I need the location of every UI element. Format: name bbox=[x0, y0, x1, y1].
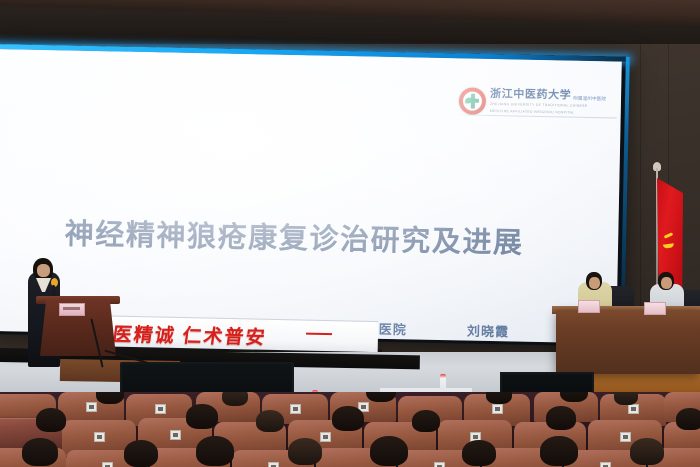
audience-head bbox=[222, 392, 248, 406]
audience-head bbox=[546, 406, 576, 430]
seat-number-tag bbox=[268, 462, 279, 467]
seat-number-tag bbox=[434, 462, 445, 467]
slide-presenter: 刘晓霞 bbox=[467, 321, 510, 341]
seat-number-tag bbox=[86, 402, 97, 412]
seat-number-tag bbox=[102, 462, 113, 467]
seat-number-tag bbox=[170, 430, 181, 440]
panel-person-1-face bbox=[589, 277, 600, 289]
logo-org-cn-suffix: 附属温州中医院 bbox=[573, 96, 606, 102]
audience-head bbox=[186, 404, 218, 429]
audience-head bbox=[412, 410, 440, 432]
water-bottle-1 bbox=[440, 374, 446, 390]
banner-text: 大医精诚 仁术普安 bbox=[90, 319, 268, 350]
logo-org-cn: 浙江中医药大学 bbox=[490, 89, 571, 102]
audience-head bbox=[614, 392, 638, 405]
slide-logo-block: 浙江中医药大学 附属温州中医院 ZHEJIANG UNIVERSITY OF T… bbox=[459, 87, 610, 117]
audience-head bbox=[370, 436, 408, 466]
seat-number-tag bbox=[620, 432, 631, 442]
audience-area bbox=[0, 392, 700, 467]
audience-head bbox=[196, 436, 234, 466]
panel-table bbox=[556, 310, 700, 374]
audience-head bbox=[22, 438, 58, 466]
seat-number-tag bbox=[628, 404, 639, 414]
audience-head bbox=[540, 436, 578, 466]
panel-nameplate-2 bbox=[644, 302, 666, 315]
seat-number-tag bbox=[94, 432, 105, 442]
podium-nameplate bbox=[59, 303, 85, 316]
audience-head bbox=[124, 440, 158, 467]
hospital-emblem-icon bbox=[459, 87, 487, 115]
panel-person-2-face bbox=[661, 277, 672, 289]
audience-head bbox=[676, 408, 700, 430]
audience-head bbox=[462, 440, 496, 466]
audience-head bbox=[96, 392, 124, 404]
audience-head bbox=[630, 438, 664, 465]
audience-head bbox=[486, 392, 512, 404]
audience-head bbox=[332, 406, 364, 431]
audience-head bbox=[36, 408, 66, 432]
slide-logo-text: 浙江中医药大学 附属温州中医院 ZHEJIANG UNIVERSITY OF T… bbox=[490, 89, 607, 116]
calligraphy-banner: 大医精诚 仁术普安 bbox=[78, 315, 379, 352]
speaker-face bbox=[37, 264, 50, 277]
seat-number-tag bbox=[155, 404, 166, 414]
audience-head bbox=[256, 410, 284, 432]
seat-number-tag bbox=[492, 404, 503, 414]
seat-number-tag bbox=[600, 462, 611, 467]
seat-number-tag bbox=[320, 432, 331, 442]
audience-head bbox=[288, 438, 322, 465]
panel-nameplate-1 bbox=[578, 300, 600, 313]
ceiling-beam bbox=[0, 0, 700, 27]
seat-number-tag bbox=[290, 404, 301, 414]
conference-photo: 浙江中医药大学 附属温州中医院 ZHEJIANG UNIVERSITY OF T… bbox=[0, 0, 700, 467]
banner-dash bbox=[306, 333, 332, 336]
slide-title: 神经精神狼疮康复诊治研究及进展 bbox=[0, 209, 595, 263]
